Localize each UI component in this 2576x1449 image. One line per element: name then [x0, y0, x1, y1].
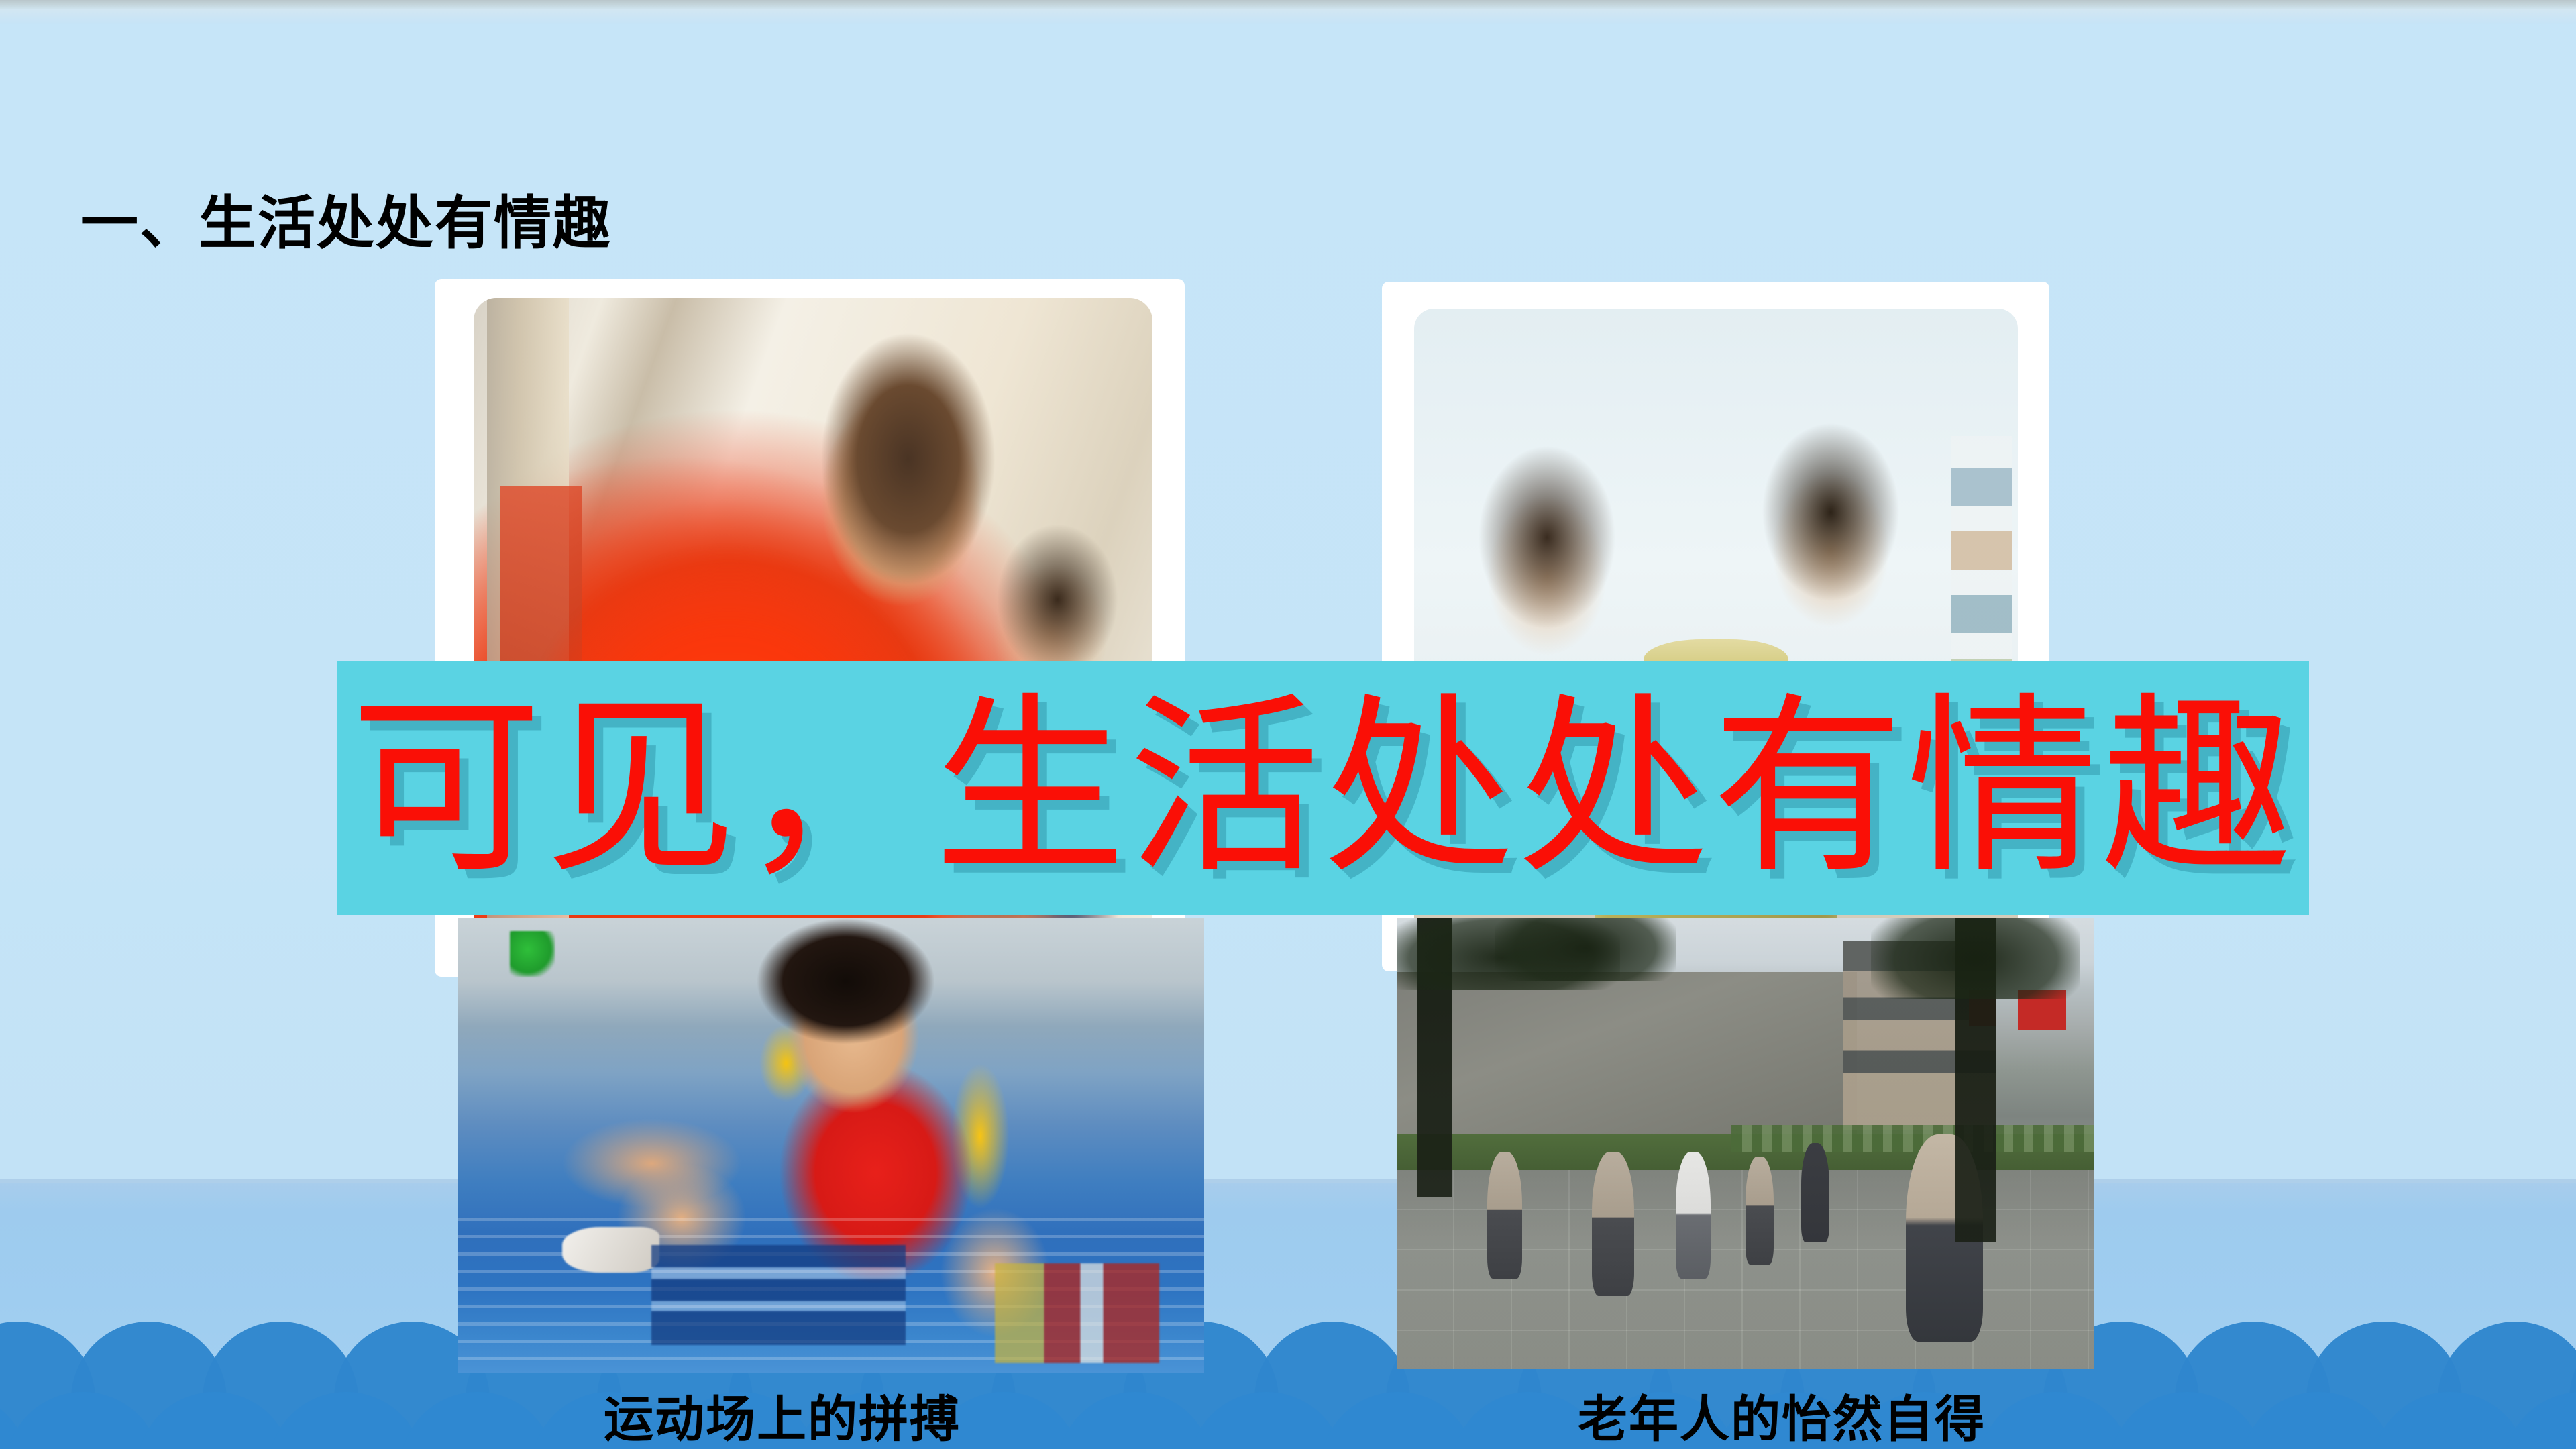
- arch-shape: [2372, 1392, 2528, 1449]
- taichi-person-1: [1487, 1152, 1522, 1278]
- caption-elders: 老年人的怡然自得: [1578, 1379, 1986, 1449]
- hurdler-broadcast-overlay: [651, 1245, 905, 1345]
- page-title: 一、生活处处有情趣: [80, 176, 612, 260]
- arch-shape: [137, 1392, 292, 1449]
- taichi-tree-canopy-3: [1871, 918, 2080, 999]
- arch-shape: [2241, 1392, 2396, 1449]
- taichi-tree-canopy-2: [1495, 918, 1676, 981]
- slide-canvas: 一、生活处处有情趣: [0, 0, 2576, 1449]
- taichi-person-4: [1746, 1157, 1774, 1265]
- photo-hurdler-frame: [458, 918, 1204, 1373]
- top-edge-strip-secondary: [0, 9, 2576, 24]
- arch-shape: [5, 1392, 161, 1449]
- arch-shape: [2109, 1392, 2265, 1449]
- background-band-divider: [0, 1179, 2576, 1183]
- top-edge-strip: [0, 0, 2576, 9]
- arch-shape: [1189, 1392, 1344, 1449]
- taichi-hedge-row: [1731, 1125, 2094, 1152]
- arch-shape: [2504, 1392, 2576, 1449]
- arch-shape: [1320, 1392, 1476, 1449]
- taichi-person-5: [1801, 1143, 1829, 1242]
- photo-taichi-image: [1397, 918, 2094, 1368]
- hurdler-stadium-logo: [510, 931, 555, 977]
- arch-shape: [400, 1392, 555, 1449]
- taichi-city-wall: [1397, 972, 1857, 1134]
- hurdler-shoe: [562, 1227, 659, 1273]
- taichi-person-2: [1592, 1152, 1633, 1296]
- hurdler-hurdle-bar: [995, 1263, 1159, 1363]
- arch-shape: [1978, 1392, 2133, 1449]
- caption-sport: 运动场上的拼搏: [604, 1379, 961, 1449]
- taichi-person-3: [1676, 1152, 1711, 1278]
- arch-decoration-front-row: [0, 1365, 2576, 1449]
- conclusion-banner-text: 可见，生活处处有情趣: [350, 692, 2296, 884]
- arch-shape: [1057, 1392, 1213, 1449]
- arch-shape: [268, 1392, 424, 1449]
- photo-hurdler-image: [458, 918, 1204, 1373]
- conclusion-banner: 可见，生活处处有情趣: [337, 661, 2309, 915]
- photo-taichi-frame: [1397, 918, 2104, 1368]
